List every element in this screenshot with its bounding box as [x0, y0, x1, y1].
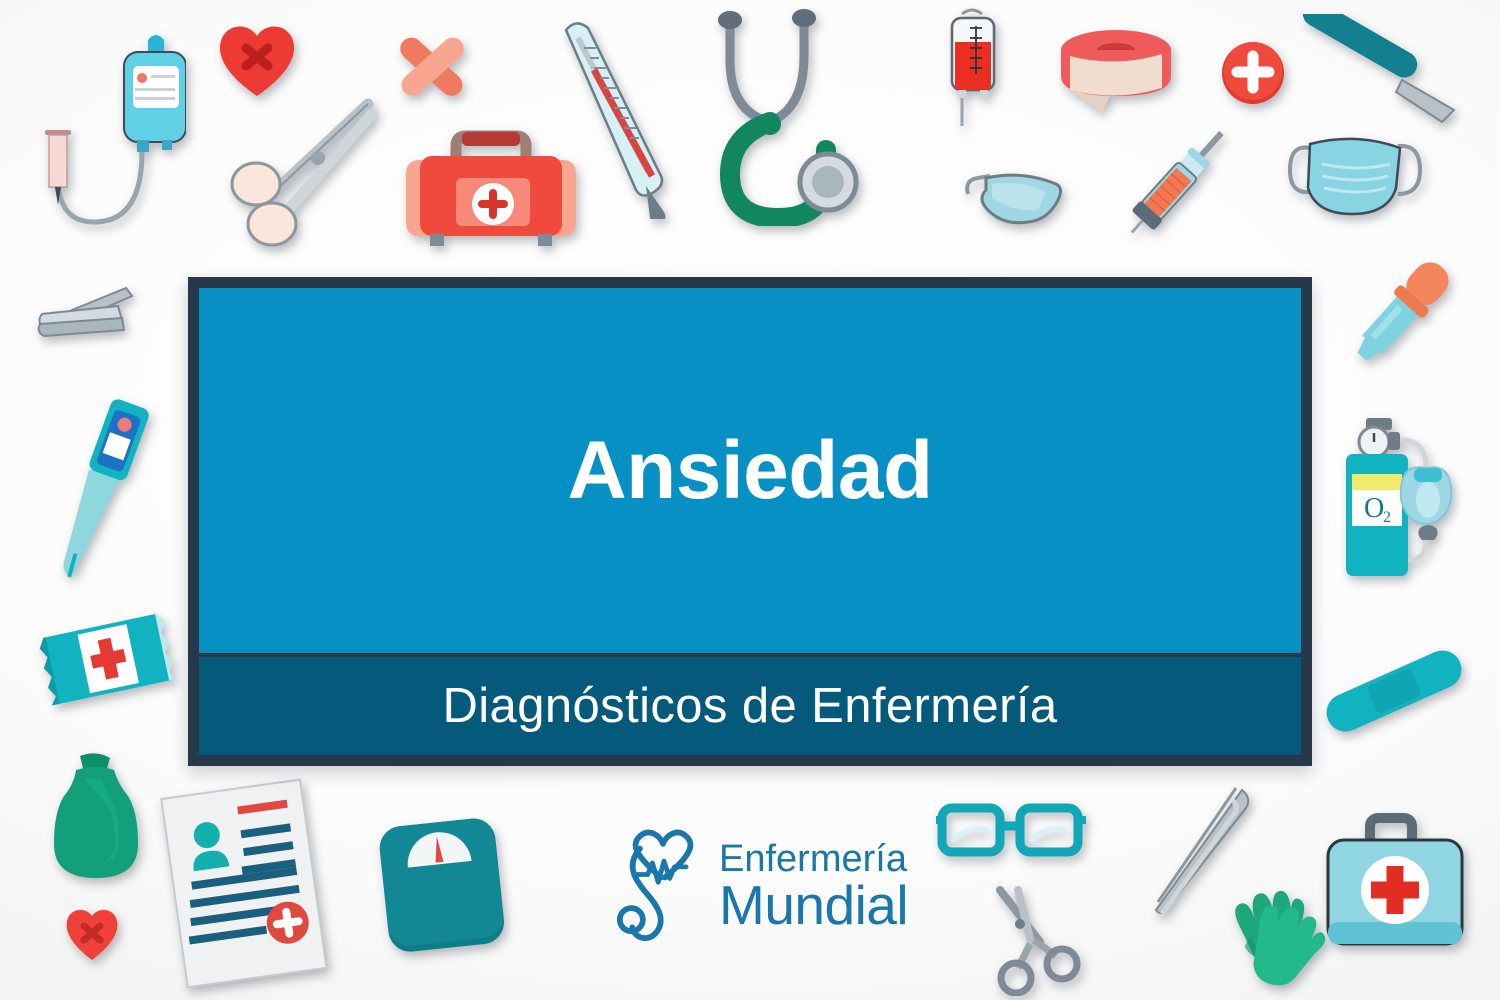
- first-aid-bag-red-icon: [396, 112, 586, 254]
- brand-wordmark: Enfermería Mundial: [719, 842, 908, 931]
- weight-scale-icon: [372, 808, 514, 964]
- scalpel-icon: [1292, 14, 1467, 134]
- oxygen-tank-icon: O 2: [1330, 410, 1472, 620]
- card-subtitle-band: Diagnósticos de Enfermería: [199, 657, 1301, 755]
- hot-water-bottle-icon: [44, 750, 148, 892]
- svg-text:O: O: [1364, 493, 1384, 524]
- syringe-orange-icon: [1122, 118, 1247, 258]
- safety-goggles-icon: [962, 164, 1074, 232]
- poster-card: Ansiedad Diagnósticos de Enfermería: [188, 277, 1312, 766]
- page-subtitle: Diagnósticos de Enfermería: [442, 682, 1057, 731]
- stethoscope-heart-ecg-icon: [615, 827, 711, 947]
- mercury-thermometer-icon: [550, 14, 675, 219]
- brand-line-mundial: Mundial: [719, 880, 908, 932]
- adhesive-strip-icon: [1318, 630, 1470, 752]
- iv-drip-bag-icon: [36, 18, 186, 258]
- medical-gloves-icon: [1222, 878, 1332, 988]
- brand-logo: Enfermería Mundial: [615, 822, 905, 952]
- card-title-panel: Ansiedad: [199, 288, 1301, 657]
- face-mask-icon: [1288, 126, 1428, 226]
- dropper-pipette-icon: [1344, 248, 1460, 376]
- heart-cross-red-icon: [212, 16, 302, 102]
- heart-cross-small-icon: [60, 902, 124, 964]
- surgical-forceps-icon: [200, 92, 385, 262]
- poster-canvas: O 2: [0, 0, 1500, 1000]
- stethoscope-green-icon: [696, 6, 936, 226]
- patient-record-icon: [152, 778, 342, 990]
- surgical-scissors-icon: [984, 884, 1086, 996]
- digital-thermometer-icon: [44, 392, 154, 592]
- first-aid-sachet-icon: [36, 598, 188, 726]
- brand-line-enfermeria: Enfermería: [719, 842, 908, 878]
- tweezers-icon: [1132, 784, 1268, 926]
- blood-bag-icon: [932, 6, 1012, 146]
- first-aid-case-icon: [1312, 810, 1478, 962]
- eyeglasses-icon: [932, 794, 1090, 866]
- bandage-roll-icon: [1050, 22, 1182, 122]
- red-cross-badge-icon: [1218, 38, 1288, 108]
- adhesive-bandage-cross-icon: [388, 22, 476, 110]
- page-title: Ansiedad: [567, 430, 932, 512]
- svg-text:2: 2: [1383, 509, 1391, 526]
- nail-clipper-icon: [32, 282, 144, 354]
